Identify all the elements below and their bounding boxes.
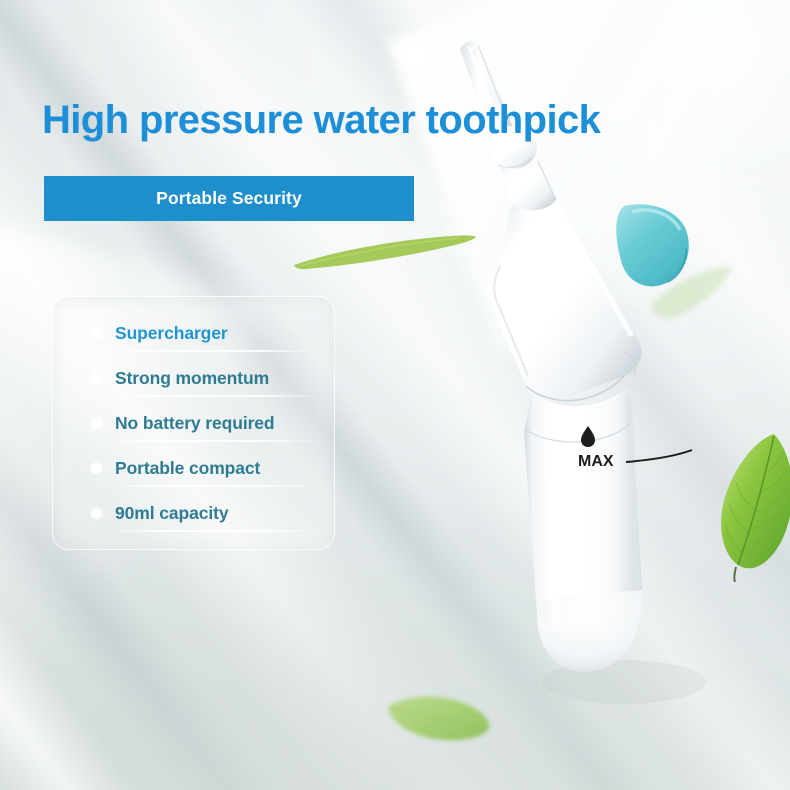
bullet-dot-icon <box>91 373 102 384</box>
bullet-dot-icon <box>91 463 102 474</box>
feature-label: No battery required <box>115 413 275 434</box>
feature-item-supercharger: Supercharger <box>53 311 334 356</box>
banner-label: Portable Security <box>156 188 302 209</box>
bullet-dot-icon <box>91 418 102 429</box>
feature-label: Supercharger <box>115 323 228 344</box>
feature-divider <box>115 485 323 487</box>
feature-divider <box>115 350 323 352</box>
max-level-line <box>626 450 692 462</box>
feature-divider <box>115 395 323 397</box>
feature-label: Portable compact <box>115 458 260 479</box>
max-label: MAX <box>578 453 614 470</box>
page-title: High pressure water toothpick <box>42 98 662 142</box>
bullet-dot-icon <box>91 508 102 519</box>
feature-divider <box>115 440 323 442</box>
power-button <box>616 204 689 286</box>
feature-label: Strong momentum <box>115 368 269 389</box>
feature-item-strong-momentum: Strong momentum <box>53 356 334 401</box>
product-banner-image: MAX High pressure water toothpick Portab… <box>0 0 790 790</box>
feature-item-90ml-capacity: 90ml capacity <box>53 491 334 536</box>
feature-item-no-battery-required: No battery required <box>53 401 334 446</box>
feature-divider <box>115 530 323 532</box>
bullet-dot-icon <box>91 328 102 339</box>
feature-item-portable-compact: Portable compact <box>53 446 334 491</box>
feature-list-card: Supercharger Strong momentum No battery … <box>52 296 335 550</box>
portable-security-banner: Portable Security <box>44 176 414 221</box>
product-tank <box>524 384 642 672</box>
feature-label: 90ml capacity <box>115 503 229 524</box>
